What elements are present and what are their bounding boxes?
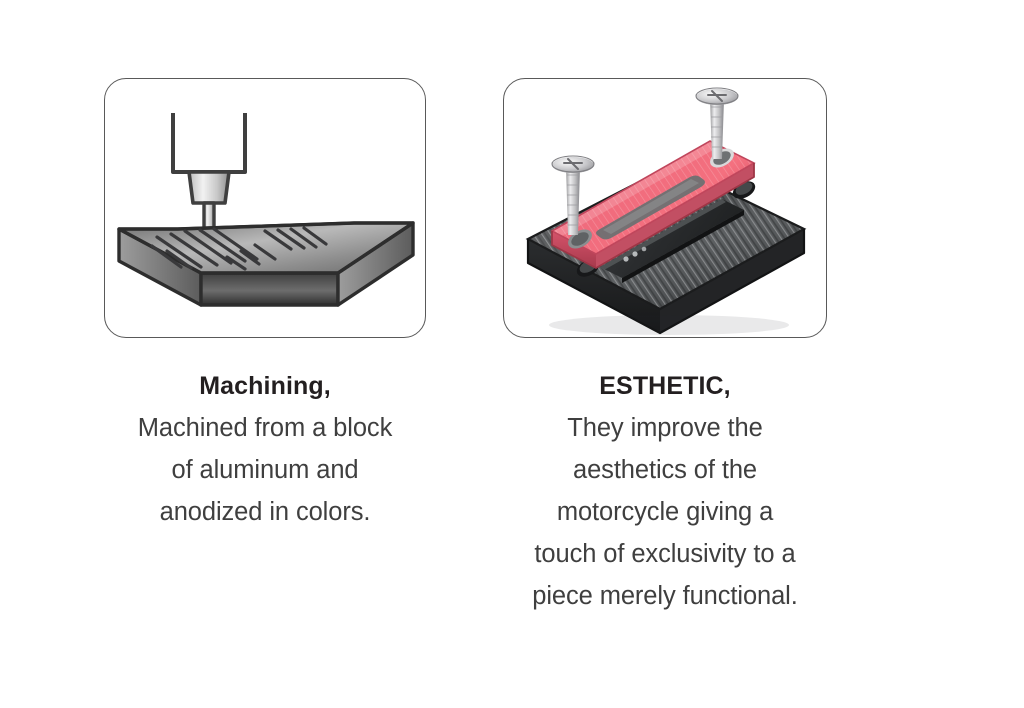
spindle-housing-icon xyxy=(173,115,245,172)
body-line: piece merely functional. xyxy=(495,575,835,617)
body-line: touch of exclusivity to a xyxy=(495,533,835,575)
caption-machining: Machining, Machined from a block of alum… xyxy=(95,370,435,533)
tool-chuck-icon xyxy=(189,172,229,203)
icon-card-machining xyxy=(104,78,426,338)
body-line: Machined from a block xyxy=(95,407,435,449)
cnc-milling-icon xyxy=(105,79,426,337)
feature-title-esthetic: ESTHETIC, xyxy=(495,370,835,402)
aluminum-block-icon xyxy=(119,223,413,305)
feature-body-esthetic: They improve the aesthetics of the motor… xyxy=(495,407,835,617)
feature-card-machining: Machining, Machined from a block of alum… xyxy=(95,78,435,533)
feature-card-esthetic: ESTHETIC, They improve the aesthetics of… xyxy=(495,78,835,617)
body-line: of aluminum and xyxy=(95,449,435,491)
icon-card-esthetic xyxy=(503,78,827,338)
feature-body-machining: Machined from a block of aluminum and an… xyxy=(95,407,435,533)
body-line: They improve the xyxy=(495,407,835,449)
page-root: Machining, Machined from a block of alum… xyxy=(0,0,1024,708)
body-line: aesthetics of the xyxy=(495,449,835,491)
caption-esthetic: ESTHETIC, They improve the aesthetics of… xyxy=(495,370,835,617)
body-line: anodized in colors. xyxy=(95,491,435,533)
feature-title-machining: Machining, xyxy=(95,370,435,402)
license-plate-bracket-photo xyxy=(504,79,827,337)
body-line: motorcycle giving a xyxy=(495,491,835,533)
